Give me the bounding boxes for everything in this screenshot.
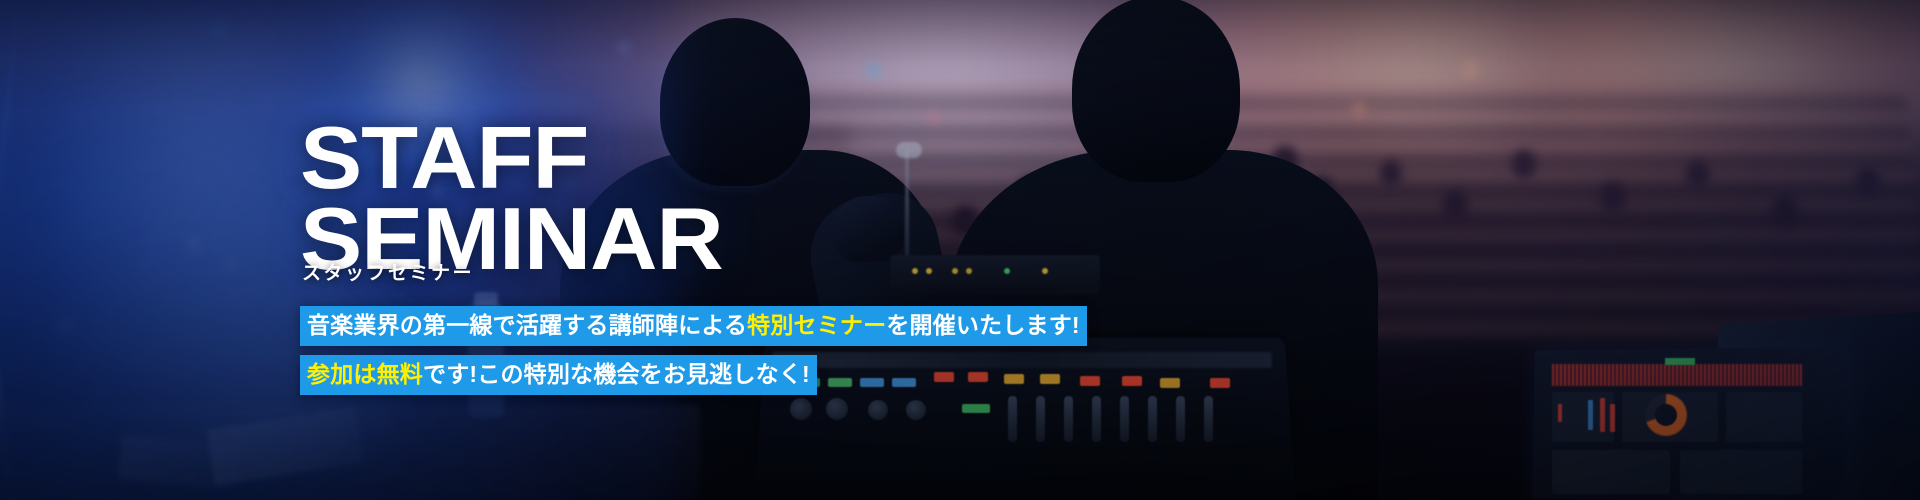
banner-content: STAFF SEMINAR スタッフセミナー 音楽業界の第一線で活躍する講師陣に…: [0, 0, 1920, 500]
subtitle-katakana: スタッフセミナー: [302, 258, 474, 285]
headline-line-1: STAFF: [300, 118, 723, 199]
lede-line-2: 参加は無料です!この特別な機会をお見逃しなく!: [300, 355, 817, 395]
lede-segment: です!この特別な機会をお見逃しなく!: [423, 361, 810, 387]
lede-line-1: 音楽業界の第一線で活躍する講師陣による特別セミナーを開催いたします!: [300, 306, 1087, 346]
lede-segment: 音楽業界の第一線で活躍する講師陣による: [307, 312, 747, 338]
lede-segment-emphasis: 参加は無料: [307, 361, 423, 387]
hero-banner: STAFF SEMINAR スタッフセミナー 音楽業界の第一線で活躍する講師陣に…: [0, 0, 1920, 500]
lede-block: 音楽業界の第一線で活躍する講師陣による特別セミナーを開催いたします! 参加は無料…: [300, 306, 1087, 395]
page-title: STAFF SEMINAR: [300, 118, 699, 280]
lede-segment-emphasis: 特別セミナー: [747, 312, 886, 338]
lede-segment: を開催いたします!: [886, 312, 1079, 338]
